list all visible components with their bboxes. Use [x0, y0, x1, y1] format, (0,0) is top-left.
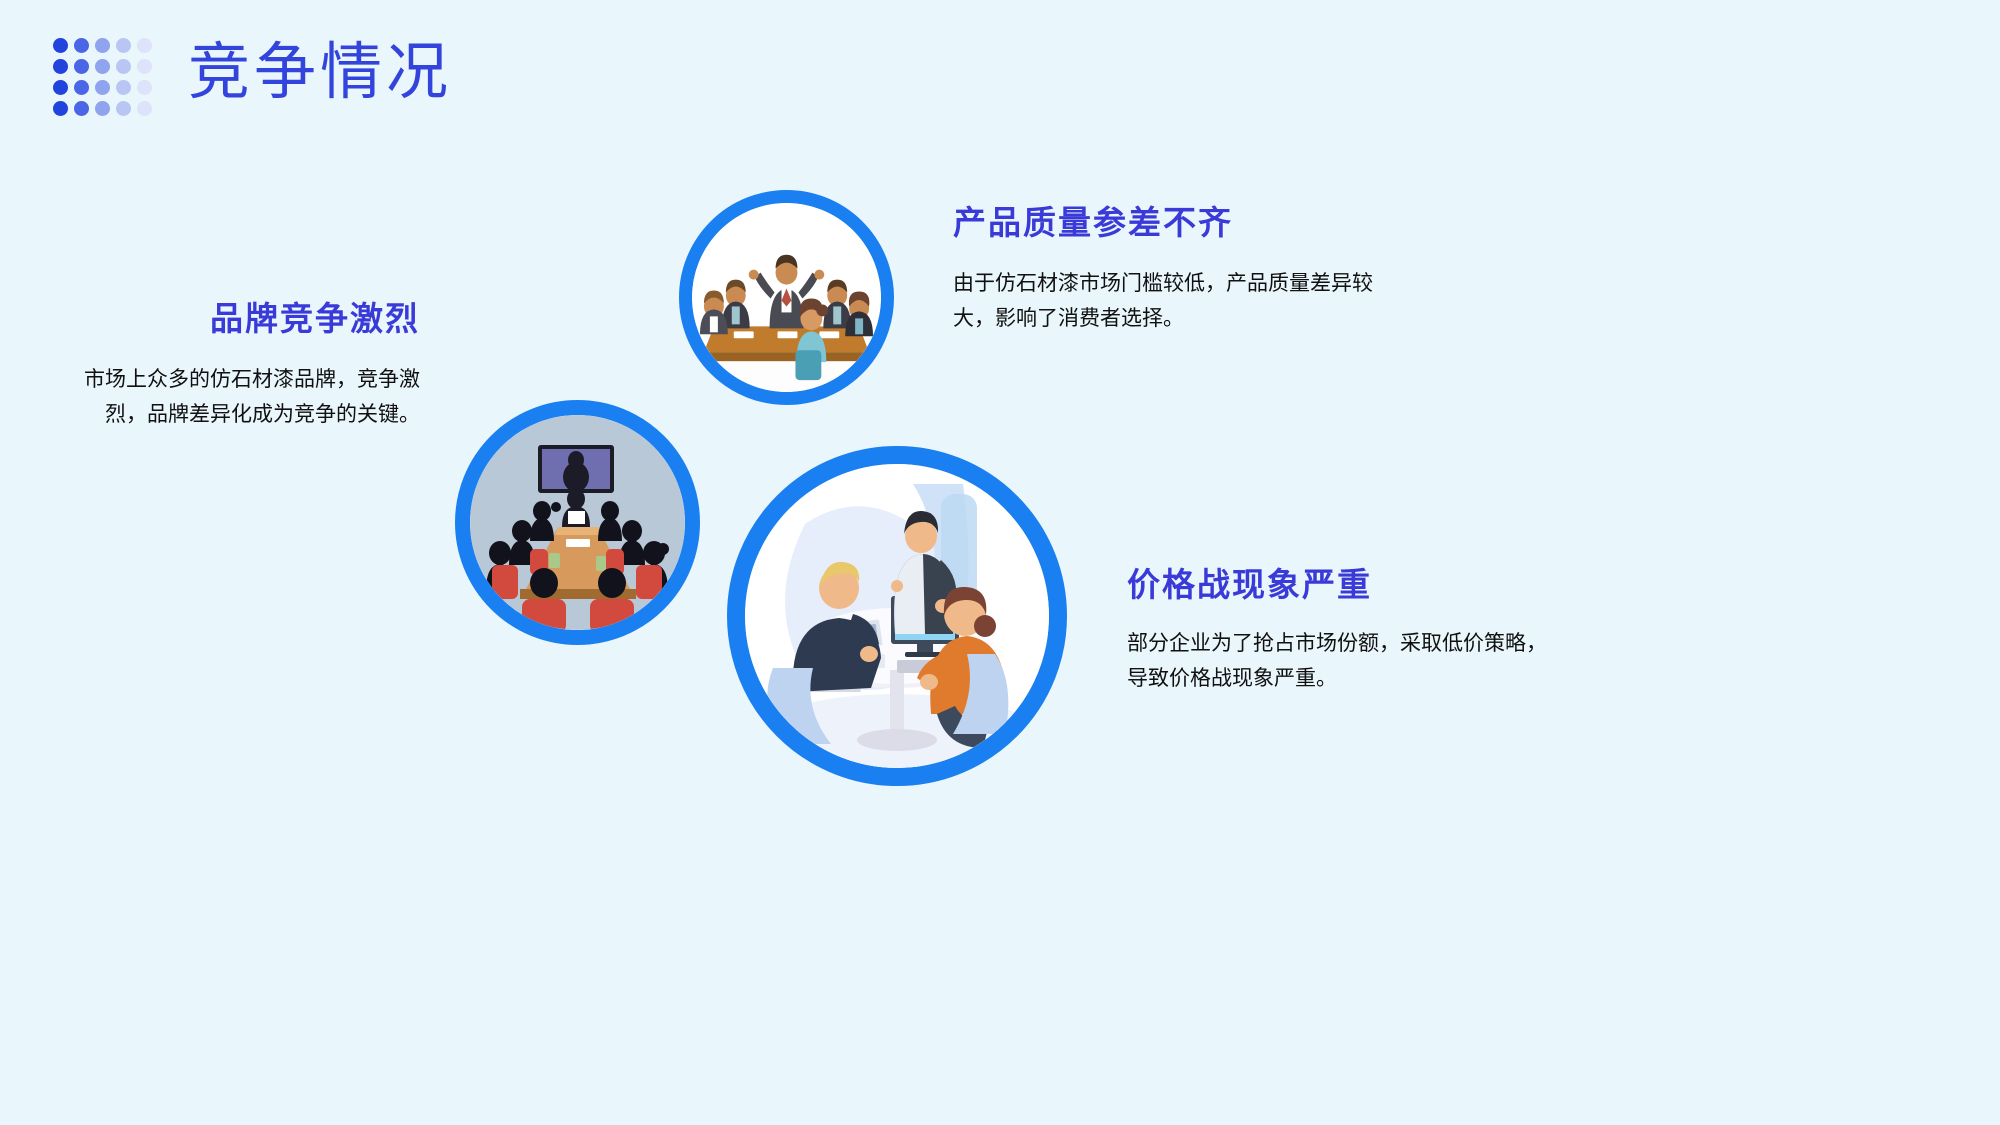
dot-grid-cell [95, 59, 110, 74]
dot-grid-cell [53, 59, 68, 74]
dot-grid-cell [95, 101, 110, 116]
page-title: 竞争情况 [188, 38, 452, 109]
dot-grid-cell [116, 38, 131, 53]
dot-grid-cell [53, 80, 68, 95]
office-teamwork-illustration [727, 446, 1067, 786]
dot-grid-cell [74, 38, 89, 53]
dot-grid-cell [116, 80, 131, 95]
price-war-body: 部分企业为了抢占市场份额，采取低价策略，导致价格战现象严重。 [1127, 626, 1547, 697]
dot-grid-cell [53, 101, 68, 116]
dot-grid-cell [95, 38, 110, 53]
dot-grid-cell [74, 59, 89, 74]
dot-grid-cell [74, 80, 89, 95]
brand-competition-body: 市场上众多的仿石材漆品牌，竞争激烈，品牌差异化成为竞争的关键。 [60, 362, 420, 433]
dot-grid-decoration [53, 38, 158, 122]
dot-grid-cell [116, 101, 131, 116]
office-scene-svg [745, 464, 1049, 768]
meeting-scene-svg [692, 203, 881, 392]
conference-auditorium-illustration [455, 400, 700, 645]
dot-grid-cell [116, 59, 131, 74]
dot-grid-cell [74, 101, 89, 116]
dot-grid-cell [137, 80, 152, 95]
auditorium-scene-svg [470, 415, 685, 630]
auditorium-illustration-inner [470, 415, 685, 630]
business-meeting-illustration [679, 190, 894, 405]
slide-canvas: 竞争情况 品牌竞争激烈 市场上众多的仿石材漆品牌，竞争激烈，品牌差异化成为竞争的… [0, 0, 2000, 1125]
brand-competition-heading: 品牌竞争激烈 [0, 292, 420, 340]
dot-grid-cell [137, 38, 152, 53]
dot-grid-cell [137, 101, 152, 116]
dot-grid-cell [95, 80, 110, 95]
meeting-illustration-inner [692, 203, 881, 392]
office-illustration-inner [745, 464, 1049, 768]
price-war-heading: 价格战现象严重 [1127, 558, 1372, 606]
dot-grid-cell [137, 59, 152, 74]
dot-grid-cell [53, 38, 68, 53]
product-quality-heading: 产品质量参差不齐 [953, 196, 1233, 244]
product-quality-body: 由于仿石材漆市场门槛较低，产品质量差异较大，影响了消费者选择。 [953, 266, 1373, 337]
